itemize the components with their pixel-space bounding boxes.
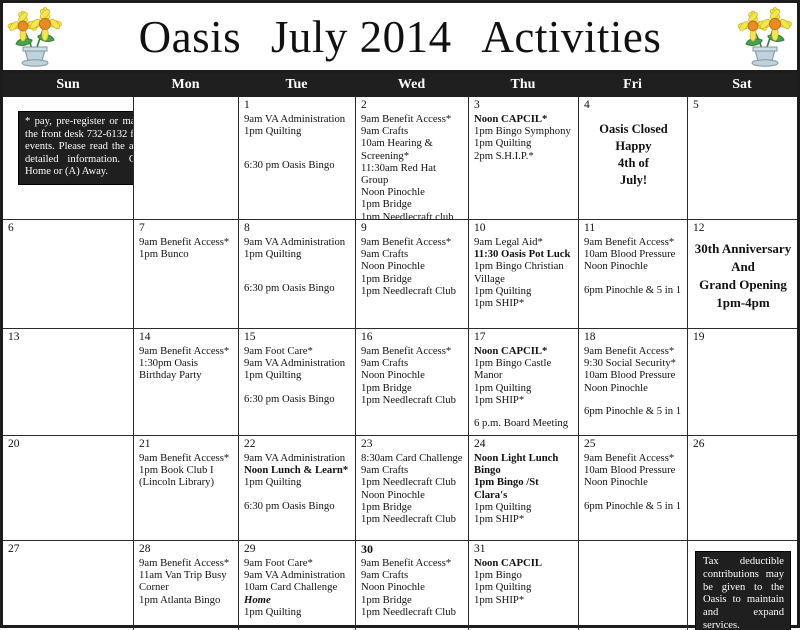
announcement-line: 1pm-4pm: [693, 294, 793, 312]
event-item[interactable]: 6:30 pm Oasis Bingo: [244, 500, 351, 512]
weekday-header-row: Sun Mon Tue Wed Thu Fri Sat: [3, 73, 797, 97]
event-item[interactable]: 1pm SHIP*: [474, 394, 574, 406]
day-cell-12[interactable]: 1230th AnniversaryAndGrand Opening1pm-4p…: [687, 220, 797, 328]
day-cell-28[interactable]: 289am Benefit Access*11am Van Trip Busy …: [133, 541, 238, 630]
day-cell-1[interactable]: 19am VA Administration1pm Quilting6:30 p…: [238, 97, 355, 219]
event-item[interactable]: 9am Legal Aid*: [474, 236, 574, 248]
day-cell-4[interactable]: 4Oasis ClosedHappy4th ofJuly!: [578, 97, 687, 219]
calendar-grid: * pay, pre-register or make an appointme…: [3, 97, 797, 630]
event-item[interactable]: 1pm Bingo Castle Manor: [474, 357, 574, 381]
event-item[interactable]: 9am Crafts: [361, 125, 464, 137]
event-list: Noon CAPCIL*1pm Bingo Castle Manor1pm Qu…: [474, 345, 574, 429]
event-item[interactable]: 1pm Bunco: [139, 248, 234, 260]
day-cell-6[interactable]: 6: [3, 220, 133, 328]
event-item[interactable]: 1pm Bridge: [361, 382, 464, 394]
day-cell-27[interactable]: 27: [3, 541, 133, 630]
event-item[interactable]: Noon Pinochle: [361, 369, 464, 381]
event-list: Noon Light Lunch Bingo1pm Bingo /St Clar…: [474, 452, 574, 525]
event-item[interactable]: 8:30am Card Challenge: [361, 452, 464, 464]
event-item[interactable]: 9am VA Administration: [244, 452, 351, 464]
event-item[interactable]: 1pm Bridge: [361, 594, 464, 606]
event-list: 9am Benefit Access*1:30pm Oasis Birthday…: [139, 345, 234, 382]
day-number: 29: [244, 543, 351, 555]
day-number: 21: [139, 438, 234, 450]
day-cell-7[interactable]: 79am Benefit Access*1pm Bunco: [133, 220, 238, 328]
event-spacer: [474, 406, 574, 417]
event-item[interactable]: Noon Pinochle: [361, 186, 464, 198]
event-item[interactable]: 9am Benefit Access*: [139, 557, 234, 569]
day-number: 8: [244, 222, 351, 234]
day-cell-15[interactable]: 159am Foot Care*9am VA Administration1pm…: [238, 329, 355, 435]
event-list: 9am Benefit Access*9am CraftsNoon Pinoch…: [361, 236, 464, 297]
event-item[interactable]: 6pm Pinochle & 5 in 1: [584, 500, 683, 512]
event-list: 9am Benefit Access*1pm Bunco: [139, 236, 234, 260]
day-number: 1: [244, 99, 351, 111]
event-item[interactable]: 11:30am Red Hat Group: [361, 162, 464, 186]
event-item[interactable]: 9am VA Administration: [244, 113, 351, 125]
day-number: 12: [693, 222, 793, 234]
calendar-week-row: 13149am Benefit Access*1:30pm Oasis Birt…: [3, 328, 797, 435]
day-number: 18: [584, 331, 683, 343]
event-item[interactable]: 9am Crafts: [361, 569, 464, 581]
announcement-line: July!: [584, 172, 683, 189]
day-cell-22[interactable]: 229am VA AdministrationNoon Lunch & Lear…: [238, 436, 355, 540]
event-item[interactable]: Noon Pinochle: [584, 382, 683, 394]
event-item[interactable]: 10am Blood Pressure: [584, 464, 683, 476]
day-cell-empty[interactable]: [578, 541, 687, 630]
day-number: 23: [361, 438, 464, 450]
event-item[interactable]: 2pm S.H.I.P.*: [474, 150, 574, 162]
day-number: 27: [8, 543, 129, 555]
calendar-week-row: 20219am Benefit Access*1pm Book Club I(L…: [3, 435, 797, 540]
day-cell-empty[interactable]: Tax deductible contributions may be give…: [687, 541, 797, 630]
event-item[interactable]: 9am VA Administration: [244, 569, 351, 581]
event-list: 9am VA AdministrationNoon Lunch & Learn*…: [244, 452, 351, 512]
sunflower-pot-icon-right: [737, 6, 793, 68]
day-announcement: Oasis ClosedHappy4th ofJuly!: [584, 121, 683, 189]
day-cell-empty[interactable]: * pay, pre-register or make an appointme…: [3, 97, 133, 219]
day-number: 10: [474, 222, 574, 234]
event-item[interactable]: 11am Van Trip Busy Corner: [139, 569, 234, 593]
day-number: 26: [693, 438, 793, 450]
day-cell-empty[interactable]: [133, 97, 238, 219]
event-item[interactable]: 1pm Needlecraft Club: [361, 513, 464, 525]
event-item[interactable]: 9am Benefit Access*: [139, 345, 234, 357]
event-item[interactable]: 9am Foot Care*: [244, 345, 351, 357]
event-item[interactable]: 1pm Quilting: [474, 137, 574, 149]
announcement-line: And: [693, 258, 793, 276]
event-item[interactable]: 9am Benefit Access*: [361, 236, 464, 248]
day-number: 20: [8, 438, 129, 450]
day-number: 19: [693, 331, 793, 343]
day-number: 11: [584, 222, 683, 234]
event-spacer: [244, 271, 351, 282]
info-note-box: * pay, pre-register or make an appointme…: [18, 111, 133, 185]
day-cell-16[interactable]: 169am Benefit Access*9am CraftsNoon Pino…: [355, 329, 468, 435]
event-list: 9am Foot Care*9am VA Administration10am …: [244, 557, 351, 618]
event-list: 9am Benefit Access*9am Crafts10am Hearin…: [361, 113, 464, 219]
day-cell-21[interactable]: 219am Benefit Access*1pm Book Club I(Lin…: [133, 436, 238, 540]
event-item[interactable]: Noon Light Lunch Bingo: [474, 452, 574, 476]
event-spacer: [584, 273, 683, 284]
event-item[interactable]: 1pm Needlecraft Club: [361, 606, 464, 618]
event-item[interactable]: 1pm Quilting: [244, 606, 351, 618]
event-item[interactable]: 9am VA Administration: [244, 236, 351, 248]
day-number: 6: [8, 222, 129, 234]
page-title: Oasis July 2014 Activities: [63, 13, 737, 61]
weekday-sat: Sat: [687, 77, 797, 93]
event-item[interactable]: 9am Benefit Access*: [584, 452, 683, 464]
event-item[interactable]: 1pm Quilting: [244, 369, 351, 381]
event-list: 9am Legal Aid*11:30 Oasis Pot Luck1pm Bi…: [474, 236, 574, 309]
day-number: 17: [474, 331, 574, 343]
day-cell-29[interactable]: 299am Foot Care*9am VA Administration10a…: [238, 541, 355, 630]
day-number: 15: [244, 331, 351, 343]
event-list: 9am Benefit Access*9:30 Social Security*…: [584, 345, 683, 417]
day-number: 4: [584, 99, 683, 111]
event-spacer: [584, 394, 683, 405]
event-list: 9am Benefit Access*10am Blood PressureNo…: [584, 452, 683, 512]
day-cell-14[interactable]: 149am Benefit Access*1:30pm Oasis Birthd…: [133, 329, 238, 435]
event-item[interactable]: Noon CAPCIL: [474, 557, 574, 569]
event-item[interactable]: 1pm Needlecraft Club: [361, 285, 464, 297]
event-spacer: [244, 148, 351, 159]
day-number: 3: [474, 99, 574, 111]
event-item[interactable]: 1pm Needlecraft club: [361, 211, 464, 219]
day-number: 2: [361, 99, 464, 111]
announcement-line: 30th Anniversary: [693, 240, 793, 258]
event-item[interactable]: 1pm Book Club I: [139, 464, 234, 476]
event-item[interactable]: 1pm Bingo /St Clara's: [474, 476, 574, 500]
event-item[interactable]: 9am Benefit Access*: [361, 557, 464, 569]
title-segment-kind: Activities: [481, 12, 661, 62]
weekday-fri: Fri: [578, 77, 687, 93]
day-number: 25: [584, 438, 683, 450]
event-spacer: [244, 137, 351, 148]
announcement-line: Happy: [584, 138, 683, 155]
event-item[interactable]: 1pm Quilting: [474, 581, 574, 593]
day-cell-18[interactable]: 189am Benefit Access*9:30 Social Securit…: [578, 329, 687, 435]
announcement-line: 4th of: [584, 155, 683, 172]
event-item[interactable]: 6:30 pm Oasis Bingo: [244, 282, 351, 294]
weekday-thu: Thu: [468, 77, 578, 93]
day-cell-8[interactable]: 89am VA Administration1pm Quilting6:30 p…: [238, 220, 355, 328]
event-spacer: [584, 489, 683, 500]
event-list: 9am Foot Care*9am VA Administration1pm Q…: [244, 345, 351, 405]
day-cell-3[interactable]: 3Noon CAPCIL*1pm Bingo Symphony1pm Quilt…: [468, 97, 578, 219]
weekday-wed: Wed: [355, 77, 468, 93]
day-number: 9: [361, 222, 464, 234]
day-cell-17[interactable]: 17Noon CAPCIL*1pm Bingo Castle Manor1pm …: [468, 329, 578, 435]
event-item[interactable]: 1pm Quilting: [474, 285, 574, 297]
event-item[interactable]: 9am Benefit Access*: [361, 345, 464, 357]
title-segment-month: July 2014: [271, 12, 452, 62]
event-spacer: [244, 382, 351, 393]
event-item[interactable]: 6:30 pm Oasis Bingo: [244, 393, 351, 405]
event-item[interactable]: 1pm Quilting: [244, 125, 351, 137]
event-item[interactable]: Noon Lunch & Learn*: [244, 464, 351, 476]
calendar-page: Oasis July 2014 Activities: [0, 0, 800, 628]
event-item[interactable]: 1pm Bridge: [361, 198, 464, 210]
day-number: 31: [474, 543, 574, 555]
day-cell-5[interactable]: 5: [687, 97, 797, 219]
event-item[interactable]: 1pm Atlanta Bingo: [139, 594, 234, 606]
sunflower-pot-icon-left: [7, 6, 63, 68]
card-challenge-location: Home: [244, 594, 271, 606]
event-list: 9am Benefit Access*9am CraftsNoon Pinoch…: [361, 557, 464, 618]
event-item[interactable]: 9am Crafts: [361, 248, 464, 260]
day-cell-2[interactable]: 29am Benefit Access*9am Crafts10am Heari…: [355, 97, 468, 219]
event-item[interactable]: Noon Pinochle: [361, 489, 464, 501]
event-list: 9am VA Administration1pm Quilting6:30 pm…: [244, 236, 351, 295]
event-item[interactable]: 9am Crafts: [361, 464, 464, 476]
event-item[interactable]: 9am Foot Care*: [244, 557, 351, 569]
day-cell-10[interactable]: 109am Legal Aid*11:30 Oasis Pot Luck1pm …: [468, 220, 578, 328]
day-cell-20[interactable]: 20: [3, 436, 133, 540]
day-number: 22: [244, 438, 351, 450]
tax-note-box: Tax deductible contributions may be give…: [695, 551, 791, 630]
event-list: 9am Benefit Access*11am Van Trip Busy Co…: [139, 557, 234, 606]
calendar-header: Oasis July 2014 Activities: [3, 3, 797, 73]
event-spacer: [244, 489, 351, 500]
day-number: 30: [361, 543, 464, 555]
announcement-line: Oasis Closed: [584, 121, 683, 138]
event-list: Noon CAPCIL*1pm Bingo Symphony1pm Quilti…: [474, 113, 574, 162]
day-number: 14: [139, 331, 234, 343]
event-item[interactable]: 1pm Bingo Christian Village: [474, 260, 574, 284]
event-item[interactable]: 1pm Bridge: [361, 501, 464, 513]
day-cell-23[interactable]: 238:30am Card Challenge9am Crafts1pm Nee…: [355, 436, 468, 540]
event-item[interactable]: 1pm Bridge: [361, 273, 464, 285]
day-announcement: 30th AnniversaryAndGrand Opening1pm-4pm: [693, 240, 793, 312]
event-list: 9am Benefit Access*9am CraftsNoon Pinoch…: [361, 345, 464, 406]
event-item[interactable]: Noon Pinochle: [584, 476, 683, 488]
event-item[interactable]: 1pm Needlecraft Club: [361, 476, 464, 488]
event-list: 9am Benefit Access*10am Blood PressureNo…: [584, 236, 683, 296]
day-cell-26[interactable]: 26: [687, 436, 797, 540]
event-item[interactable]: 11:30 Oasis Pot Luck: [474, 248, 574, 260]
event-item[interactable]: 1pm SHIP*: [474, 297, 574, 309]
event-item[interactable]: 6pm Pinochle & 5 in 1: [584, 405, 683, 417]
event-item[interactable]: 1pm Quilting: [244, 476, 351, 488]
event-item[interactable]: Noon Pinochle: [361, 581, 464, 593]
event-item[interactable]: 10am Blood Pressure: [584, 248, 683, 260]
day-number: 24: [474, 438, 574, 450]
event-item[interactable]: 6:30 pm Oasis Bingo: [244, 159, 351, 171]
event-spacer: [244, 260, 351, 271]
day-number: 13: [8, 331, 129, 343]
day-cell-13[interactable]: 13: [3, 329, 133, 435]
event-list: 9am VA Administration1pm Quilting6:30 pm…: [244, 113, 351, 172]
weekday-sun: Sun: [3, 77, 133, 93]
day-cell-30[interactable]: 309am Benefit Access*9am CraftsNoon Pino…: [355, 541, 468, 630]
calendar-week-row: * pay, pre-register or make an appointme…: [3, 97, 797, 219]
event-item[interactable]: 1:30pm Oasis Birthday Party: [139, 357, 234, 381]
event-list: Noon CAPCIL1pm Bingo1pm Quilting1pm SHIP…: [474, 557, 574, 606]
event-item[interactable]: 6pm Pinochle & 5 in 1: [584, 284, 683, 296]
day-cell-24[interactable]: 24Noon Light Lunch Bingo1pm Bingo /St Cl…: [468, 436, 578, 540]
event-item[interactable]: Noon CAPCIL*: [474, 345, 574, 357]
day-number: 28: [139, 543, 234, 555]
event-item[interactable]: Noon CAPCIL*: [474, 113, 574, 125]
event-item[interactable]: 10am Blood Pressure: [584, 369, 683, 381]
event-item[interactable]: Noon Pinochle: [584, 260, 683, 272]
event-item[interactable]: 9am Crafts: [361, 357, 464, 369]
event-item[interactable]: 9:30 Social Security*: [584, 357, 683, 369]
event-item[interactable]: 1pm Needlecraft Club: [361, 394, 464, 406]
event-item[interactable]: 9am VA Administration: [244, 357, 351, 369]
event-item[interactable]: 1pm Quilting: [474, 501, 574, 513]
event-item[interactable]: (Lincoln Library): [139, 476, 234, 488]
day-cell-11[interactable]: 119am Benefit Access*10am Blood Pressure…: [578, 220, 687, 328]
day-cell-19[interactable]: 19: [687, 329, 797, 435]
event-item[interactable]: 9am Benefit Access*: [139, 236, 234, 248]
calendar-week-row: 27289am Benefit Access*11am Van Trip Bus…: [3, 540, 797, 630]
day-number: 16: [361, 331, 464, 343]
day-cell-9[interactable]: 99am Benefit Access*9am CraftsNoon Pinoc…: [355, 220, 468, 328]
day-cell-25[interactable]: 259am Benefit Access*10am Blood Pressure…: [578, 436, 687, 540]
event-item[interactable]: 10am Hearing & Screening*: [361, 137, 464, 161]
event-item[interactable]: 1pm Bingo: [474, 569, 574, 581]
event-item[interactable]: 1pm Quilting: [474, 382, 574, 394]
title-segment-org: Oasis: [139, 12, 242, 62]
day-cell-31[interactable]: 31Noon CAPCIL1pm Bingo1pm Quilting1pm SH…: [468, 541, 578, 630]
event-list: 9am Benefit Access*1pm Book Club I(Linco…: [139, 452, 234, 489]
event-item[interactable]: 1pm Quilting: [244, 248, 351, 260]
event-item[interactable]: 1pm SHIP*: [474, 513, 574, 525]
event-item[interactable]: 9am Benefit Access*: [584, 236, 683, 248]
event-item[interactable]: 10am Card Challenge Home: [244, 581, 351, 605]
event-item[interactable]: 9am Benefit Access*: [361, 113, 464, 125]
event-item[interactable]: 1pm SHIP*: [474, 594, 574, 606]
event-item[interactable]: 1pm Bingo Symphony: [474, 125, 574, 137]
calendar-week-row: 679am Benefit Access*1pm Bunco89am VA Ad…: [3, 219, 797, 328]
day-number: 7: [139, 222, 234, 234]
announcement-line: Grand Opening: [693, 276, 793, 294]
event-item[interactable]: Noon Pinochle: [361, 260, 464, 272]
event-item[interactable]: 6 p.m. Board Meeting: [474, 417, 574, 429]
event-item[interactable]: 9am Benefit Access*: [139, 452, 234, 464]
weekday-tue: Tue: [238, 77, 355, 93]
day-number: 5: [693, 99, 793, 111]
weekday-mon: Mon: [133, 77, 238, 93]
event-list: 8:30am Card Challenge9am Crafts1pm Needl…: [361, 452, 464, 525]
event-item[interactable]: 9am Benefit Access*: [584, 345, 683, 357]
